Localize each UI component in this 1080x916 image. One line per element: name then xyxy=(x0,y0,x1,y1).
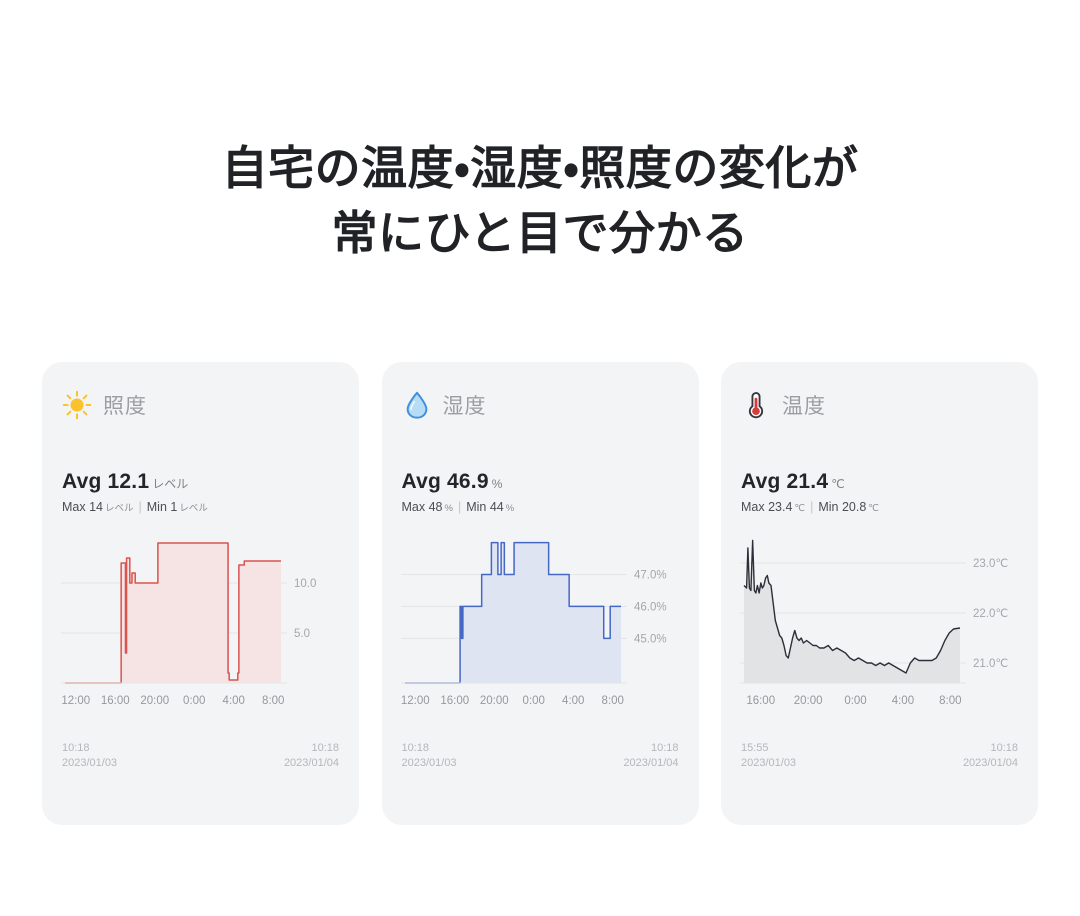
avg-value: Avg 12.1レベル xyxy=(62,470,208,494)
x-tick-label: 0:00 xyxy=(175,695,215,707)
avg-unit: レベル xyxy=(152,477,188,491)
max-unit: ℃ xyxy=(794,503,805,514)
y-tick-label: 10.0 xyxy=(294,578,316,590)
end-time: 10:18 xyxy=(963,741,1018,756)
chart-illuminance[interactable]: 10.05.0 12:0016:0020:000:004:008:00 xyxy=(56,527,345,719)
stats-illuminance: Avg 12.1レベル Max 14レベル|Min 1レベル xyxy=(62,470,208,514)
max-unit: レベル xyxy=(105,503,134,514)
chart-svg: 10.05.0 xyxy=(56,527,345,695)
range-end: 10:18 2023/01/04 xyxy=(623,741,678,771)
card-humidity[interactable]: 湿度 Avg 46.9% Max 48%|Min 44% 47.0%46.0%4… xyxy=(382,362,699,825)
minmax-separator: | xyxy=(810,500,813,514)
min-unit: レベル xyxy=(179,503,208,514)
minmax-separator: | xyxy=(458,500,461,514)
chart-area-fill xyxy=(65,543,281,683)
x-axis-illuminance: 12:0016:0020:000:004:008:00 xyxy=(56,695,293,707)
range-end: 10:18 2023/01/04 xyxy=(963,741,1018,771)
card-header: 照度 xyxy=(62,386,339,424)
x-tick-label: 12:00 xyxy=(56,695,96,707)
stats-temperature: Avg 21.4℃ Max 23.4℃|Min 20.8℃ xyxy=(741,470,879,514)
max-value: Max 14 xyxy=(62,500,103,514)
x-tick-label: 20:00 xyxy=(784,695,831,707)
min-value: Min 44 xyxy=(466,500,504,514)
range-start: 10:18 2023/01/03 xyxy=(62,741,117,771)
x-tick-label: 20:00 xyxy=(475,695,515,707)
start-time: 10:18 xyxy=(62,741,117,756)
min-unit: ℃ xyxy=(868,503,879,514)
avg-number: Avg 46.9 xyxy=(402,470,489,493)
card-temperature[interactable]: 温度 Avg 21.4℃ Max 23.4℃|Min 20.8℃ 23.0℃22… xyxy=(721,362,1038,825)
x-tick-label: 0:00 xyxy=(514,695,554,707)
x-tick-label: 12:00 xyxy=(396,695,436,707)
max-value: Max 23.4 xyxy=(741,500,792,514)
min-value: Min 1 xyxy=(147,500,178,514)
card-footer: 10:18 2023/01/03 10:18 2023/01/04 xyxy=(402,741,679,771)
y-tick-label: 22.0℃ xyxy=(973,608,1008,620)
x-tick-label: 16:00 xyxy=(737,695,784,707)
card-illuminance[interactable]: 照度 Avg 12.1レベル Max 14レベル|Min 1レベル 10.05.… xyxy=(42,362,359,825)
chart-area-fill xyxy=(744,541,960,684)
y-tick-label: 23.0℃ xyxy=(973,558,1008,570)
x-tick-label: 4:00 xyxy=(879,695,926,707)
chart-svg: 47.0%46.0%45.0% xyxy=(396,527,685,695)
chart-svg: 23.0℃22.0℃21.0℃ xyxy=(735,527,1024,695)
x-tick-label: 20:00 xyxy=(135,695,175,707)
start-date: 2023/01/03 xyxy=(402,756,457,771)
start-time: 15:55 xyxy=(741,741,796,756)
x-tick-label: 16:00 xyxy=(96,695,136,707)
end-date: 2023/01/04 xyxy=(963,756,1018,771)
min-unit: % xyxy=(506,503,514,514)
headline-line-2: 常にひと目で分かる xyxy=(0,201,1080,266)
y-tick-label: 21.0℃ xyxy=(973,658,1008,670)
min-value: Min 20.8 xyxy=(818,500,866,514)
minmax-separator: | xyxy=(139,500,142,514)
card-title-humidity: 湿度 xyxy=(443,390,487,420)
headline-line-1: 自宅の温度・湿度・照度の変化が xyxy=(0,136,1080,201)
card-footer: 15:55 2023/01/03 10:18 2023/01/04 xyxy=(741,741,1018,771)
x-tick-label: 0:00 xyxy=(832,695,879,707)
end-time: 10:18 xyxy=(284,741,339,756)
end-date: 2023/01/04 xyxy=(623,756,678,771)
y-tick-label: 45.0% xyxy=(634,633,667,645)
x-axis-temperature: 16:0020:000:004:008:00 xyxy=(735,695,974,707)
x-tick-label: 4:00 xyxy=(554,695,594,707)
card-title-illuminance: 照度 xyxy=(103,390,147,420)
y-tick-label: 5.0 xyxy=(294,628,310,640)
max-value: Max 48 xyxy=(402,500,443,514)
x-tick-label: 16:00 xyxy=(435,695,475,707)
minmax-row: Max 14レベル|Min 1レベル xyxy=(62,500,208,514)
x-tick-label: 4:00 xyxy=(214,695,254,707)
range-start: 10:18 2023/01/03 xyxy=(402,741,457,771)
card-title-temperature: 温度 xyxy=(782,390,826,420)
page-headline: 自宅の温度・湿度・照度の変化が 常にひと目で分かる xyxy=(0,136,1080,267)
x-tick-label: 8:00 xyxy=(593,695,633,707)
range-end: 10:18 2023/01/04 xyxy=(284,741,339,771)
start-date: 2023/01/03 xyxy=(741,756,796,771)
start-date: 2023/01/03 xyxy=(62,756,117,771)
droplet-icon xyxy=(402,390,432,420)
range-start: 15:55 2023/01/03 xyxy=(741,741,796,771)
sensor-cards-row: 照度 Avg 12.1レベル Max 14レベル|Min 1レベル 10.05.… xyxy=(42,362,1038,825)
x-axis-humidity: 12:0016:0020:000:004:008:00 xyxy=(396,695,633,707)
avg-value: Avg 21.4℃ xyxy=(741,470,879,494)
card-header: 温度 xyxy=(741,386,1018,424)
avg-unit: % xyxy=(492,477,503,491)
card-header: 湿度 xyxy=(402,386,679,424)
thermometer-icon xyxy=(741,390,771,420)
minmax-row: Max 48%|Min 44% xyxy=(402,500,515,514)
avg-value: Avg 46.9% xyxy=(402,470,515,494)
y-tick-label: 47.0% xyxy=(634,569,667,581)
sun-icon xyxy=(62,390,92,420)
stats-humidity: Avg 46.9% Max 48%|Min 44% xyxy=(402,470,515,514)
start-time: 10:18 xyxy=(402,741,457,756)
y-tick-label: 46.0% xyxy=(634,601,667,613)
x-tick-label: 8:00 xyxy=(927,695,974,707)
avg-number: Avg 21.4 xyxy=(741,470,828,493)
end-date: 2023/01/04 xyxy=(284,756,339,771)
chart-area-fill xyxy=(405,543,621,683)
x-tick-label: 8:00 xyxy=(254,695,294,707)
end-time: 10:18 xyxy=(623,741,678,756)
chart-temperature[interactable]: 23.0℃22.0℃21.0℃ 16:0020:000:004:008:00 xyxy=(735,527,1024,719)
chart-humidity[interactable]: 47.0%46.0%45.0% 12:0016:0020:000:004:008… xyxy=(396,527,685,719)
avg-number: Avg 12.1 xyxy=(62,470,149,493)
max-unit: % xyxy=(445,503,453,514)
card-footer: 10:18 2023/01/03 10:18 2023/01/04 xyxy=(62,741,339,771)
avg-unit: ℃ xyxy=(831,477,844,491)
minmax-row: Max 23.4℃|Min 20.8℃ xyxy=(741,500,879,514)
